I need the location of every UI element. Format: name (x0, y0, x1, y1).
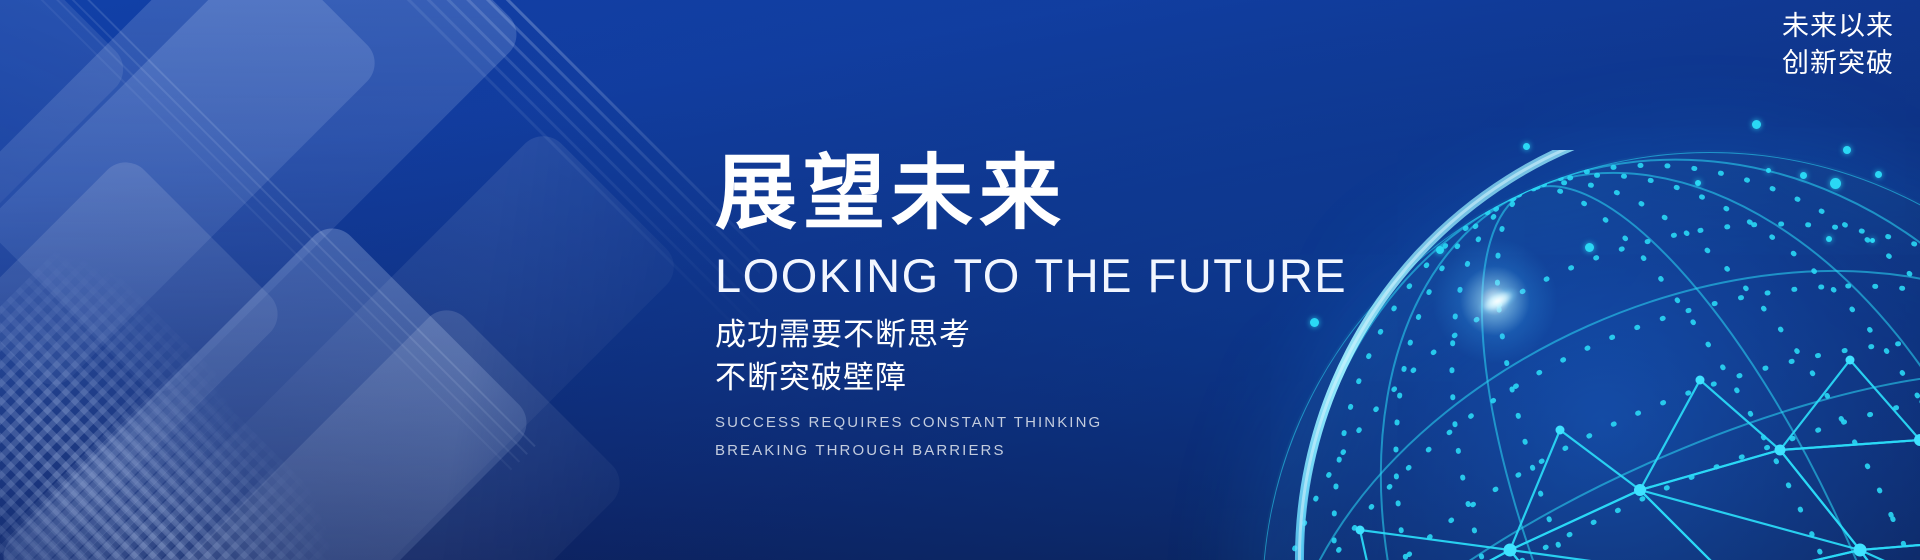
particle-dot (1870, 238, 1875, 243)
tagline-english: SUCCESS REQUIRES CONSTANT THINKING BREAK… (715, 409, 1535, 465)
subheadline-english: LOOKING TO THE FUTURE (715, 247, 1535, 304)
deco-rounded-rect (0, 152, 288, 560)
tagline-english-line2: BREAKING THROUGH BARRIERS (715, 437, 1535, 465)
particle-dot (1523, 143, 1530, 150)
particle-dot (1766, 168, 1771, 173)
particle-dot (1585, 243, 1594, 252)
tagline-chinese: 成功需要不断思考 不断突破壁障 (715, 314, 1535, 398)
corner-slogan-line2: 创新突破 (1782, 45, 1894, 82)
deco-rounded-rect (0, 0, 385, 395)
deco-diagonal-lines (391, 0, 760, 408)
deco-rounded-rect (0, 0, 527, 402)
tagline-chinese-line1: 成功需要不断思考 (715, 314, 1535, 355)
hero-copy: 展望未来 LOOKING TO THE FUTURE 成功需要不断思考 不断突破… (715, 150, 1535, 465)
tagline-english-line1: SUCCESS REQUIRES CONSTANT THINKING (715, 409, 1535, 437)
deco-rounded-rect (175, 125, 684, 560)
deco-rounded-rect (150, 300, 631, 560)
deco-diagonal-lines (91, 0, 760, 477)
deco-halftone-grid (0, 358, 392, 560)
particle-dot (1695, 180, 1701, 186)
particle-dot (1826, 236, 1832, 242)
deco-rounded-rect (0, 0, 134, 324)
corner-slogan-line1: 未来以来 (1782, 8, 1894, 45)
particle-dot (1875, 171, 1882, 178)
particle-dot (1843, 146, 1851, 154)
tagline-chinese-line2: 不断突破壁障 (715, 357, 1535, 398)
deco-diagonal-lines (0, 0, 536, 477)
corner-slogan: 未来以来 创新突破 (1782, 8, 1894, 83)
deco-halftone-grid (0, 232, 308, 560)
particle-dot (1800, 172, 1807, 179)
particle-dot (1830, 178, 1841, 189)
deco-rounded-rect (0, 218, 537, 560)
particle-dot (1752, 120, 1761, 129)
hero-banner: 未来以来 创新突破 展望未来 LOOKING TO THE FUTURE 成功需… (0, 0, 1920, 560)
headline: 展望未来 (715, 150, 1535, 239)
